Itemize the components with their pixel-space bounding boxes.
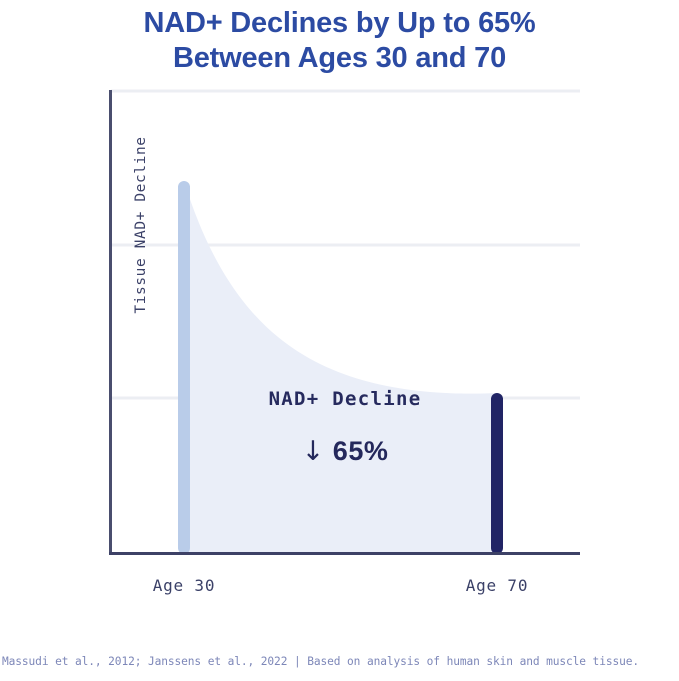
decline-area-fill [184,181,497,554]
chart-svg [0,0,679,681]
bar-age-30 [178,181,190,554]
x-tick-age-30: Age 30 [114,576,254,595]
chart-plot-area: Tissue NAD+ Decline Age 30 Age 70 NAD+ D… [0,0,679,681]
decline-annotation: NAD+ Decline ↓ 65% [205,388,485,467]
y-axis-label: Tissue NAD+ Decline [133,125,155,325]
decline-annotation-label: NAD+ Decline [205,388,485,410]
source-citation: Massudi et al., 2012; Janssens et al., 2… [2,655,678,668]
decline-annotation-value: ↓ 65% [205,436,485,467]
chart-page: NAD+ Declines by Up to 65% Between Ages … [0,0,679,681]
x-tick-age-70: Age 70 [427,576,567,595]
decline-percent-text: 65% [333,436,389,466]
bar-age-70 [491,393,503,554]
arrow-down-icon: ↓ [302,436,325,467]
